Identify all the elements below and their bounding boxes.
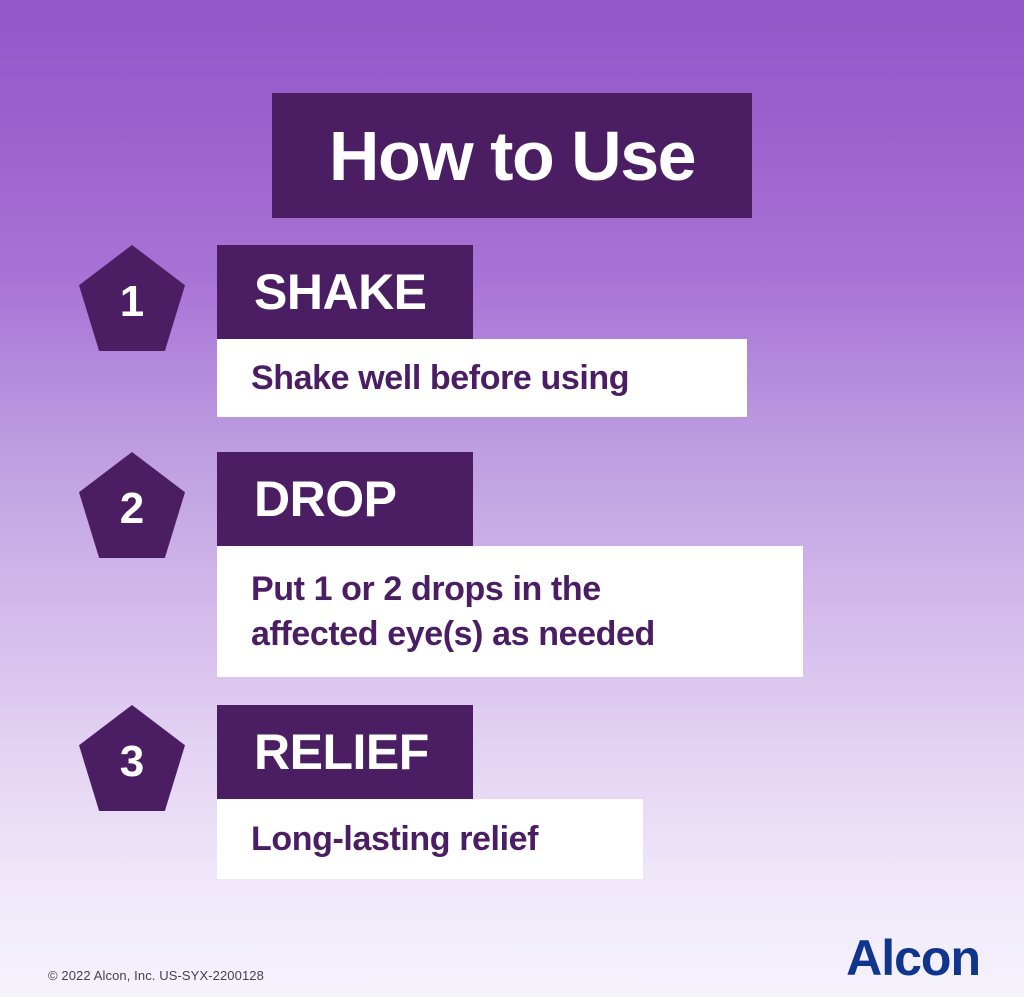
poster-canvas: How to Use 1 SHAKE Shake well before usi… [0, 0, 1024, 997]
pentagon-badge-3: 3 [79, 705, 185, 811]
pentagon-badge-2: 2 [79, 452, 185, 558]
step-body-2: Put 1 or 2 drops in the affected eye(s) … [217, 546, 803, 677]
step-number-1: 1 [120, 272, 144, 324]
pentagon-badge-1: 1 [79, 245, 185, 351]
step-header-3: RELIEF [217, 705, 473, 799]
step-body-1: Shake well before using [217, 339, 747, 417]
step-body-text-2: Put 1 or 2 drops in the affected eye(s) … [251, 567, 655, 657]
alcon-logo: Alcon [846, 933, 980, 983]
step-header-2: DROP [217, 452, 473, 546]
copyright-notice: © 2022 Alcon, Inc. US-SYX-2200128 [48, 968, 264, 983]
step-body-text-1: Shake well before using [251, 356, 629, 401]
step-header-label-3: RELIEF [254, 727, 429, 777]
step-header-label-2: DROP [254, 474, 396, 524]
title-banner: How to Use [272, 93, 752, 218]
step-number-2: 2 [120, 479, 144, 531]
step-number-3: 3 [120, 732, 144, 784]
step-body-text-3: Long-lasting relief [251, 817, 538, 862]
step-body-3: Long-lasting relief [217, 799, 643, 879]
page-title: How to Use [329, 121, 695, 191]
step-header-label-1: SHAKE [254, 267, 427, 317]
step-header-1: SHAKE [217, 245, 473, 339]
